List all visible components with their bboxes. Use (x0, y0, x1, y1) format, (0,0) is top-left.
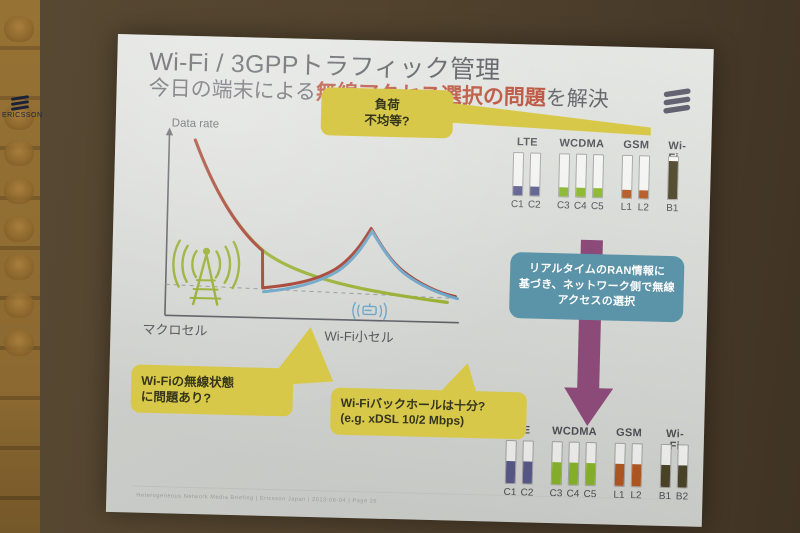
signal-bar-c5 (592, 154, 604, 198)
x-label-macro: マクロセル (142, 319, 207, 340)
signal-bar-label: C2 (520, 487, 534, 498)
callout-wifi-radio-line2: に問題あり? (141, 389, 283, 409)
signal-bar-fill (615, 464, 625, 486)
signal-bar-c4 (575, 154, 587, 198)
bar-group-wcdma: WCDMAC3C4C5 (550, 425, 597, 502)
signal-bar-fill (593, 188, 602, 197)
signal-bar-b2 (677, 444, 689, 488)
signal-bar-fill (513, 186, 522, 195)
signal-bar-fill (632, 464, 642, 486)
signal-bar-label: C3 (549, 488, 563, 499)
wall-logo-text: ERICSSON (2, 112, 43, 119)
signal-bar-l2 (638, 155, 650, 199)
signal-bar-label: C1 (503, 487, 517, 498)
subtitle-prefix: 今日の端末による (148, 76, 316, 103)
banner-portrait (4, 292, 34, 318)
signal-bar-label: C3 (556, 200, 570, 211)
callout-load: 負荷 不均等? (321, 87, 454, 138)
signal-bar-c3 (551, 441, 563, 485)
signal-bar-c2 (522, 440, 534, 484)
signal-bar-label: B2 (675, 491, 689, 502)
bar-group-label: GSM (615, 427, 643, 440)
signal-bar-label: L1 (612, 490, 626, 501)
signal-bar-fill (661, 465, 671, 487)
signal-bar-fill (586, 463, 596, 485)
signal-bar-fill (530, 187, 539, 196)
ericsson-bars-icon (9, 96, 31, 110)
bar-group-gsm: GSML1L2 (621, 139, 651, 216)
signal-bar-c1 (512, 152, 524, 196)
curve-served-red (192, 140, 460, 297)
slide-footer: Heterogeneous Network Media Briefing | E… (136, 493, 377, 505)
signal-bar-label: C5 (590, 201, 604, 212)
data-rate-graph: Data rate (138, 119, 484, 358)
photograph-of-projected-slide: ERICSSON Wi-Fi / 3GPPトラフィック管理 今日の端末による無線… (0, 0, 800, 533)
signal-bar-l1 (621, 155, 633, 199)
signal-bar-l2 (631, 443, 643, 487)
bar-group-wcdma: WCDMAC3C4C5 (558, 137, 605, 214)
banner-portrait (4, 216, 34, 242)
bar-group-lte: LTEC1C2 (512, 136, 542, 213)
cell-tower-icon (172, 240, 239, 305)
presentation-slide: Wi-Fi / 3GPPトラフィック管理 今日の端末による無線アクセス選択の問題… (106, 34, 714, 527)
wall-banner: ERICSSON (0, 0, 40, 533)
callout-backhaul-line2: (e.g. xDSL 10/2 Mbps) (340, 411, 516, 431)
callout-backhaul: Wi-Fiバックホールは十分? (e.g. xDSL 10/2 Mbps) (330, 388, 527, 440)
y-axis (165, 133, 170, 315)
callout-wifi-radio: Wi-Fiの無線状態 に問題あり? (130, 364, 293, 416)
signal-bar-c1 (505, 440, 517, 484)
signal-bar-fill (569, 463, 579, 485)
banner-portrait (4, 140, 34, 166)
load-callout-tail (436, 100, 657, 142)
wifi-access-point-icon (353, 303, 387, 320)
signal-bar-fill (523, 462, 533, 484)
signal-bar-fill (622, 189, 631, 198)
bar-group-gsm: GSML1L2 (613, 427, 643, 504)
banner-portrait (4, 330, 34, 356)
signal-bar-fill (506, 461, 516, 483)
signal-bars-unbalanced: LTEC1C2WCDMAC3C4C5GSML1L2Wi-FiB1 (512, 136, 704, 219)
signal-bar-label: C2 (527, 199, 541, 210)
bar-group-wi-fi: Wi-FiB1B2 (659, 428, 689, 505)
bar-group-wi-fi: Wi-FiB1 (667, 140, 680, 216)
signal-bar-c4 (568, 442, 580, 486)
signal-bar-fill (559, 187, 568, 196)
signal-bar-fill (552, 462, 562, 484)
ericsson-logo (660, 88, 695, 115)
signal-bar-label: C5 (583, 489, 597, 500)
signal-bar-label: L1 (619, 202, 633, 213)
blue-info-box: リアルタイムのRAN情報に 基づき、ネットワーク側で無線 アクセスの選択 (509, 252, 685, 322)
banner-portrait (4, 254, 34, 280)
signal-bar-fill (576, 188, 585, 197)
signal-bar-l1 (614, 443, 626, 487)
signal-bar-b1 (667, 156, 679, 200)
banner-portrait (4, 178, 34, 204)
x-axis (165, 315, 459, 322)
signal-bar-fill (639, 190, 648, 199)
signal-bar-c2 (529, 152, 541, 196)
signal-bar-fill (678, 465, 688, 487)
banner-portrait (4, 16, 34, 42)
signal-bar-b1 (660, 444, 672, 488)
signal-bar-label: L2 (636, 202, 650, 213)
signal-bar-c5 (585, 442, 597, 486)
signal-bar-label: B1 (658, 491, 672, 502)
signal-bar-label: L2 (629, 490, 643, 501)
y-axis-label: Data rate (172, 117, 220, 130)
signal-bar-fill (668, 161, 678, 199)
signal-bar-c3 (558, 153, 570, 197)
signal-bar-label: B1 (665, 203, 679, 214)
callout-load-line2: 不均等? (327, 111, 447, 130)
signal-bar-label: C4 (566, 488, 580, 499)
signal-bar-label: C4 (573, 201, 587, 212)
wall-ericsson-logo: ERICSSON (2, 96, 38, 119)
signal-bar-label: C1 (510, 199, 524, 210)
